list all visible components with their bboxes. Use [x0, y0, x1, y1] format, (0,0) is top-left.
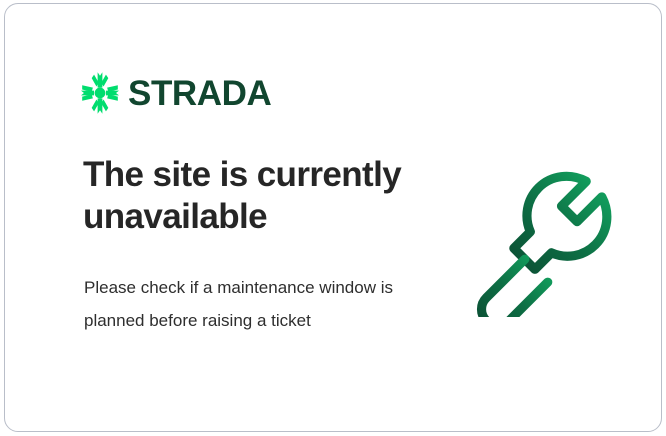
page-title: The site is currently unavailable — [83, 154, 423, 239]
status-card: STRADA The site is currently unavailable… — [4, 3, 662, 432]
brand-logo: STRADA — [81, 72, 271, 114]
wrench-icon — [457, 152, 622, 317]
brand-wordmark: STRADA — [128, 76, 271, 111]
page-description: Please check if a maintenance window is … — [84, 272, 394, 337]
asterisk-logo-icon — [81, 72, 119, 114]
maintenance-page: STRADA The site is currently unavailable… — [0, 0, 666, 436]
